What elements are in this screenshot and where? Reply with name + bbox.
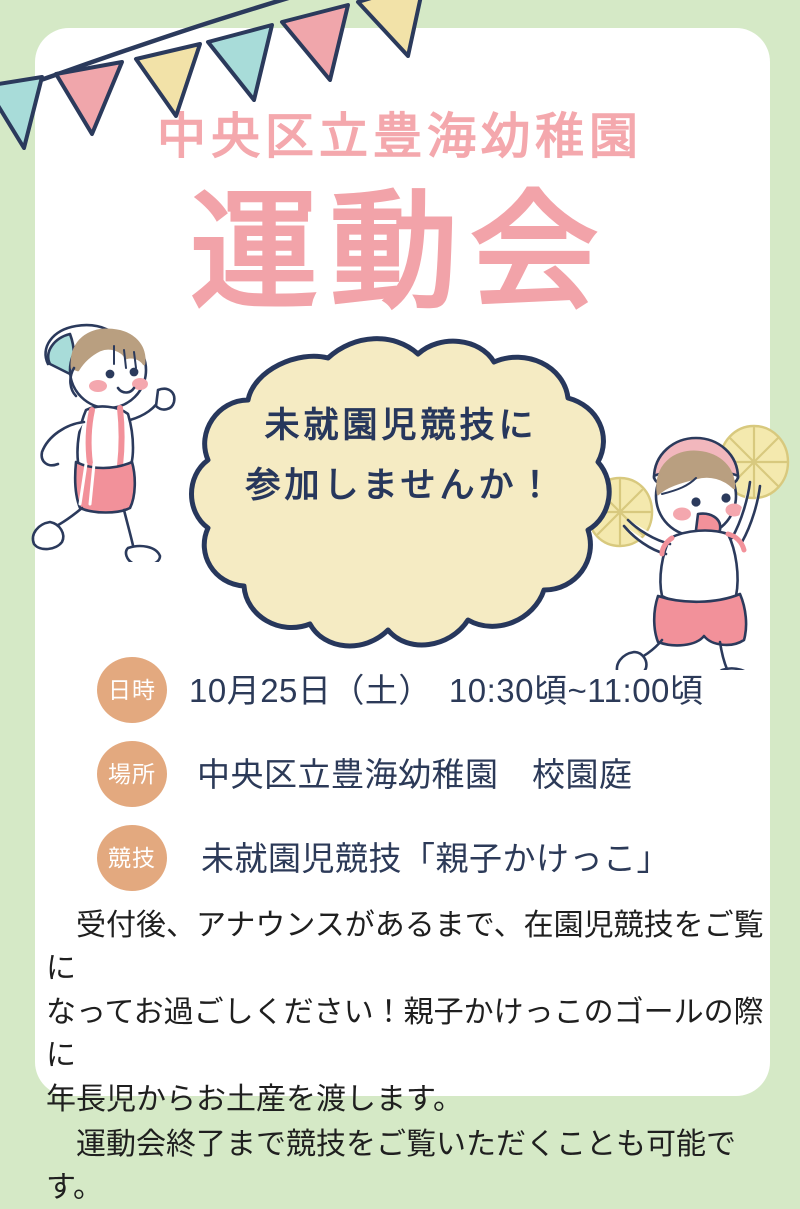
info-value-location: 中央区立豊海幼稚園 校園庭 (197, 758, 633, 791)
body-line-3: 年長児からお土産を渡します。 (46, 1079, 764, 1122)
info-row-event: 競技 未就園児競技「親子かけっこ」 (0, 816, 800, 900)
body-line-2: なってお過ごしください！親子かけっこのゴールの際に (46, 992, 764, 1077)
running-child-illustration (14, 312, 194, 562)
body-line-1: 受付後、アナウンスがあるまで、在園児競技をご覧に (46, 905, 764, 990)
info-badge-location: 場所 (97, 741, 167, 807)
callout-cloud: 未就園児競技に 参加しませんか！ (178, 336, 624, 666)
body-copy: 受付後、アナウンスがあるまで、在園児競技をご覧に なってお過ごしください！親子か… (46, 905, 764, 1209)
school-name: 中央区立豊海幼稚園 (0, 113, 800, 162)
callout-line-2: 参加しませんか！ (178, 456, 624, 516)
info-row-datetime: 日時 10月25日（土） 10:30頃~11:00頃 (0, 648, 800, 732)
info-row-location: 場所 中央区立豊海幼稚園 校園庭 (0, 732, 800, 816)
info-badge-datetime: 日時 (97, 657, 167, 723)
info-list: 日時 10月25日（土） 10:30頃~11:00頃 場所 中央区立豊海幼稚園 … (0, 648, 800, 900)
event-title: 運動会 (0, 186, 800, 320)
info-value-event: 未就園児競技「親子かけっこ」 (201, 842, 670, 875)
callout-text: 未就園児競技に 参加しませんか！ (178, 396, 624, 516)
body-line-4: 運動会終了まで競技をご覧いただくことも可能です。 (46, 1124, 764, 1209)
callout-line-1: 未就園児競技に (178, 396, 624, 456)
info-value-datetime: 10月25日（土） 10:30頃~11:00頃 (189, 674, 703, 707)
info-badge-event: 競技 (97, 825, 167, 891)
